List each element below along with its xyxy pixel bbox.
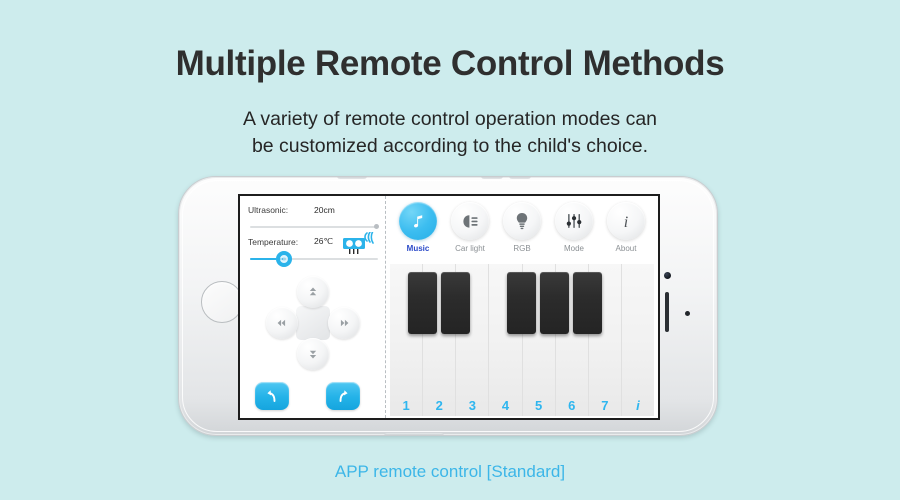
piano-key-label: 1 <box>402 398 409 413</box>
turn-right-button[interactable] <box>326 382 360 410</box>
ultrasonic-slider[interactable] <box>250 222 378 232</box>
temperature-label: Temperature: <box>248 237 314 247</box>
tab-music[interactable]: Music <box>394 202 442 253</box>
caption-text: APP remote control [Standard] <box>0 462 900 482</box>
piano-key-label: 3 <box>469 398 476 413</box>
power-button[interactable] <box>337 176 367 179</box>
tab-bar: Music Car light <box>386 196 658 264</box>
piano-key-label: 7 <box>601 398 608 413</box>
sliders-icon <box>555 202 593 240</box>
piano-key-black[interactable] <box>507 272 536 334</box>
smartphone-device: Ultrasonic: 20cm Temperature: 26℃ <box>178 176 718 436</box>
piano-key-black[interactable] <box>540 272 569 334</box>
dpad-up-button[interactable] <box>297 276 329 308</box>
home-button[interactable] <box>201 281 243 323</box>
piano-key-label: 4 <box>502 398 509 413</box>
backward-arrow-icon <box>307 348 319 360</box>
tab-label: RGB <box>513 244 530 253</box>
ultrasonic-label: Ultrasonic: <box>248 205 314 215</box>
music-note-icon <box>399 202 437 240</box>
dpad-center <box>296 306 330 340</box>
info-icon: i <box>607 202 645 240</box>
undo-arrow-icon <box>264 388 280 404</box>
dpad-down-button[interactable] <box>297 338 329 370</box>
promo-banner: Multiple Remote Control Methods A variet… <box>0 0 900 500</box>
ultrasonic-sensor-icon <box>342 232 376 258</box>
tab-label: About <box>616 244 637 253</box>
piano-key-info[interactable]: i <box>622 264 654 416</box>
tab-about[interactable]: i About <box>602 202 650 253</box>
left-arrow-icon <box>276 317 288 329</box>
earpiece-speaker <box>665 292 669 332</box>
slider-track <box>250 226 378 228</box>
right-arrow-icon <box>338 317 350 329</box>
piano-key-black[interactable] <box>441 272 470 334</box>
ultrasonic-value: 20cm <box>314 205 335 215</box>
piano-key-black[interactable] <box>573 272 602 334</box>
music-pane: Music Car light <box>386 196 658 418</box>
phone-screen: Ultrasonic: 20cm Temperature: 26℃ <box>238 194 660 420</box>
piano-key-label: 2 <box>436 398 443 413</box>
tab-label: Car light <box>455 244 485 253</box>
page-title: Multiple Remote Control Methods <box>0 44 900 84</box>
volume-down-button[interactable] <box>509 176 531 179</box>
lightning-port <box>384 433 444 436</box>
front-camera-icon <box>664 272 671 279</box>
slider-thumb[interactable] <box>374 224 379 229</box>
tab-mode[interactable]: Mode <box>550 202 598 253</box>
redo-arrow-icon <box>335 388 351 404</box>
direction-pad <box>266 276 360 370</box>
dpad-left-button[interactable] <box>266 307 298 339</box>
tab-label: Mode <box>564 244 584 253</box>
light-bulb-icon <box>503 202 541 240</box>
tab-rgb[interactable]: RGB <box>498 202 546 253</box>
piano-keyboard: 1 2 3 4 5 <box>390 264 654 416</box>
proximity-sensor-icon <box>685 311 690 316</box>
volume-up-button[interactable] <box>481 176 503 179</box>
ultrasonic-readout: Ultrasonic: 20cm <box>248 205 380 215</box>
headlight-icon <box>451 202 489 240</box>
turn-left-button[interactable] <box>255 382 289 410</box>
page-subtitle: A variety of remote control operation mo… <box>0 106 900 160</box>
temperature-value: 26℃ <box>314 236 333 247</box>
tab-car-light[interactable]: Car light <box>446 202 494 253</box>
forward-arrow-icon <box>307 286 319 298</box>
piano-key-label: 5 <box>535 398 542 413</box>
robot-control-pane: Ultrasonic: 20cm Temperature: 26℃ <box>240 196 386 418</box>
tab-label: Music <box>407 244 430 253</box>
piano-key-label: 6 <box>568 398 575 413</box>
subtitle-line-1: A variety of remote control operation mo… <box>0 106 900 133</box>
piano-key-label: i <box>636 398 640 413</box>
svg-text:i: i <box>624 214 628 230</box>
subtitle-line-2: be customized according to the child's c… <box>0 133 900 160</box>
dpad-right-button[interactable] <box>328 307 360 339</box>
slider-thumb[interactable] <box>276 251 292 267</box>
piano-key-black[interactable] <box>408 272 437 334</box>
